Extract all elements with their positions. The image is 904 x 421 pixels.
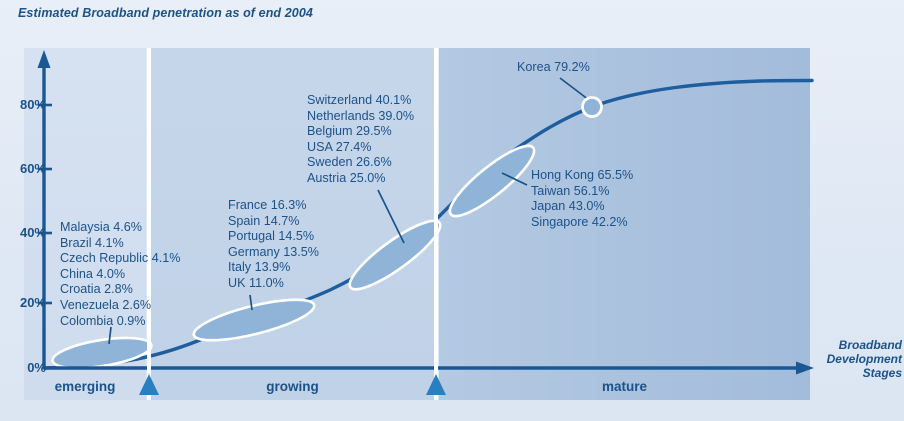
annotation-advanced-countries: Switzerland 40.1%Netherlands 39.0%Belgiu…	[307, 93, 414, 187]
cluster-ellipse-growing	[190, 291, 317, 348]
stage-label-mature: mature	[439, 374, 810, 400]
korea-data-point	[583, 98, 602, 117]
y-tick-label-60: 60%	[0, 161, 46, 176]
annotation-mature-countries: Hong Kong 65.5%Taiwan 56.1%Japan 43.0%Si…	[531, 168, 633, 230]
y-axis-tick-labels: 0% 20% 40% 60% 80%	[0, 0, 46, 421]
x-axis-title: Broadband Development Stages	[822, 338, 902, 380]
stage-label-emerging: emerging	[24, 374, 146, 400]
leader-line-advanced	[378, 190, 404, 243]
y-tick-label-20: 20%	[0, 295, 46, 310]
annotation-growing-countries: France 16.3%Spain 14.7%Portugal 14.5%Ger…	[228, 198, 319, 292]
y-axis-title: Estimated Broadband penetration as of en…	[18, 6, 348, 21]
leader-line-korea	[560, 78, 589, 100]
y-tick-label-40: 40%	[0, 225, 46, 240]
y-tick-label-0: 0%	[0, 360, 46, 375]
y-tick-label-80: 80%	[0, 97, 46, 112]
chart-vector-layer	[0, 0, 904, 421]
x-axis	[44, 362, 814, 375]
annotation-emerging-countries: Malaysia 4.6%Brazil 4.1%Czech Republic 4…	[60, 220, 180, 329]
stage-label-growing: growing	[151, 374, 434, 400]
cluster-ellipse-mature	[442, 137, 542, 225]
chart-canvas: 0% 20% 40% 60% 80% Estimated Broadband p…	[0, 0, 904, 421]
annotation-korea: Korea 79.2%	[517, 60, 590, 76]
